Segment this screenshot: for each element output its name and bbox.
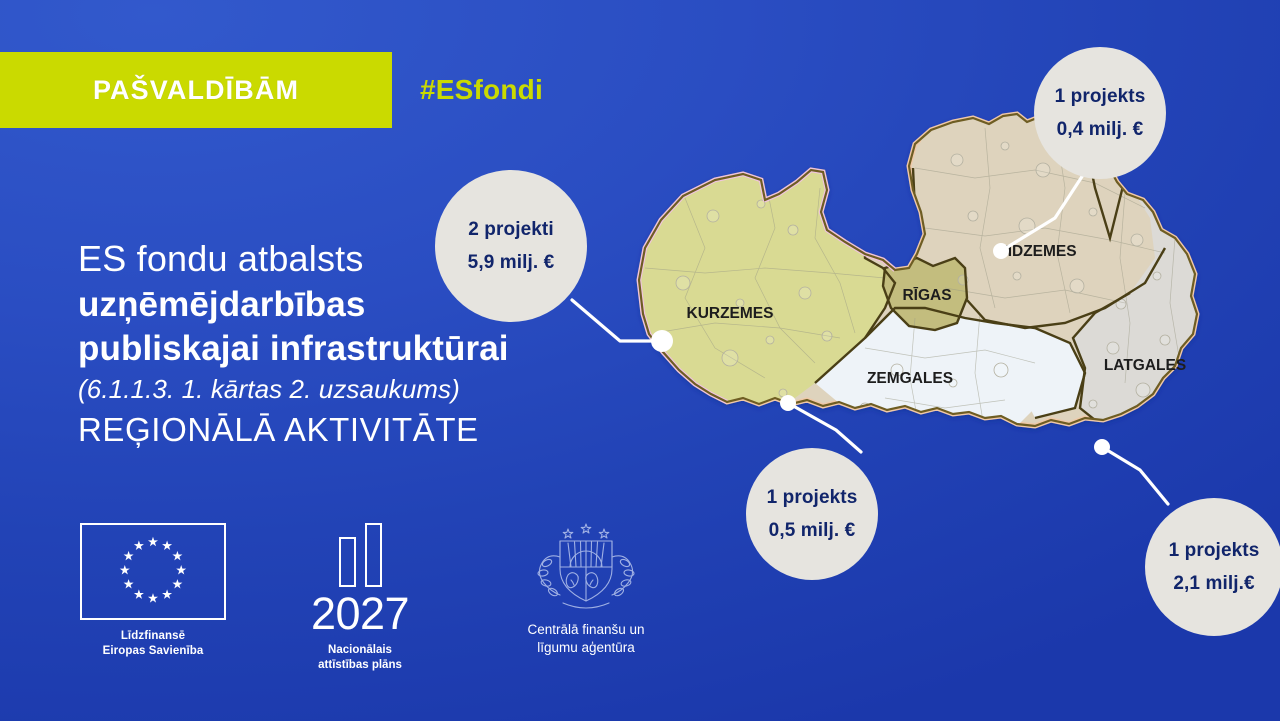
cfla-logo-caption: Centrālā finanšu un līgumu aģentūra: [527, 621, 644, 658]
infographic-canvas: PAŠVALDĪBĀM #ESfondi ES fondu atbalsts u…: [0, 0, 1280, 721]
headline-line-3: publiskajai infrastruktūrai: [78, 327, 638, 371]
callout-bubble-latgale[interactable]: 1 projekts 2,1 milj.€: [1145, 498, 1280, 636]
header-badge-row: PAŠVALDĪBĀM #ESfondi: [0, 52, 543, 128]
nap-logo-caption: Nacionālais attīstības plāns: [318, 643, 402, 674]
eu-stars-icon: [82, 525, 224, 619]
callout-bubble-vidzeme[interactable]: 1 projekts 0,4 milj. €: [1034, 47, 1166, 179]
eu-emblem-logo: Līdzfinansē Eiropas Savienība: [78, 523, 228, 659]
callout-bubble-zemgale[interactable]: 1 projekts 0,5 milj. €: [746, 448, 878, 580]
audience-badge: PAŠVALDĪBĀM: [0, 52, 392, 128]
callout-bubble-kurzeme[interactable]: 2 projekti 5,9 milj. €: [435, 170, 587, 322]
callout-projects-zemgale: 1 projekts: [767, 487, 858, 509]
region-label-zemgale: ZEMGALES: [867, 370, 953, 387]
region-label-riga: RĪGAS: [902, 287, 951, 304]
nap-caption-line-1: Nacionālais: [328, 644, 392, 656]
callout-amount-latgale: 2,1 milj.€: [1173, 573, 1254, 595]
region-label-vidzeme: VIDZEMES: [997, 243, 1076, 260]
national-development-plan-logo: 2027 Nacionālais attīstības plāns: [290, 523, 430, 674]
eu-caption-line-2: Eiropas Savienība: [103, 645, 204, 657]
eu-logo-caption: Līdzfinansē Eiropas Savienība: [103, 629, 204, 659]
headline-line-5: REĢIONĀLĀ AKTIVITĀTE: [78, 409, 638, 451]
callout-amount-vidzeme: 0,4 milj. €: [1057, 119, 1144, 141]
hashtag-label: #ESfondi: [420, 74, 543, 106]
latvia-regions-map: KURZEMES RĪGAS ZEMGALES VIDZEMES LATGALE…: [565, 108, 1265, 508]
callout-amount-zemgale: 0,5 milj. €: [769, 520, 856, 542]
nap-year-label: 2027: [311, 591, 409, 636]
callout-projects-vidzeme: 1 projekts: [1055, 86, 1146, 108]
callout-projects-kurzeme: 2 projekti: [468, 219, 553, 241]
region-label-latgale: LATGALES: [1104, 357, 1186, 374]
callout-projects-latgale: 1 projekts: [1169, 540, 1260, 562]
region-label-kurzeme: KURZEMES: [687, 305, 774, 322]
cfla-logo: Centrālā finanšu un līgumu aģentūra: [486, 523, 686, 658]
cfla-caption-line-1: Centrālā finanšu un: [527, 622, 644, 637]
nap-bars-icon: [339, 523, 382, 587]
cfla-caption-line-2: līgumu aģentūra: [537, 640, 635, 655]
logo-strip: Līdzfinansē Eiropas Savienība 2027 Nacio…: [78, 523, 686, 674]
headline-line-4: (6.1.1.3. 1. kārtas 2. uzsaukums): [78, 371, 638, 409]
callout-amount-kurzeme: 5,9 milj. €: [468, 252, 555, 274]
eu-caption-line-1: Līdzfinansē: [121, 630, 185, 642]
latvian-coat-of-arms-icon: [527, 523, 645, 615]
map-svg: KURZEMES RĪGAS ZEMGALES VIDZEMES LATGALE…: [565, 108, 1265, 508]
eu-flag-icon: [80, 523, 226, 620]
audience-badge-label: PAŠVALDĪBĀM: [93, 75, 299, 106]
nap-caption-line-2: attīstības plāns: [318, 659, 402, 671]
